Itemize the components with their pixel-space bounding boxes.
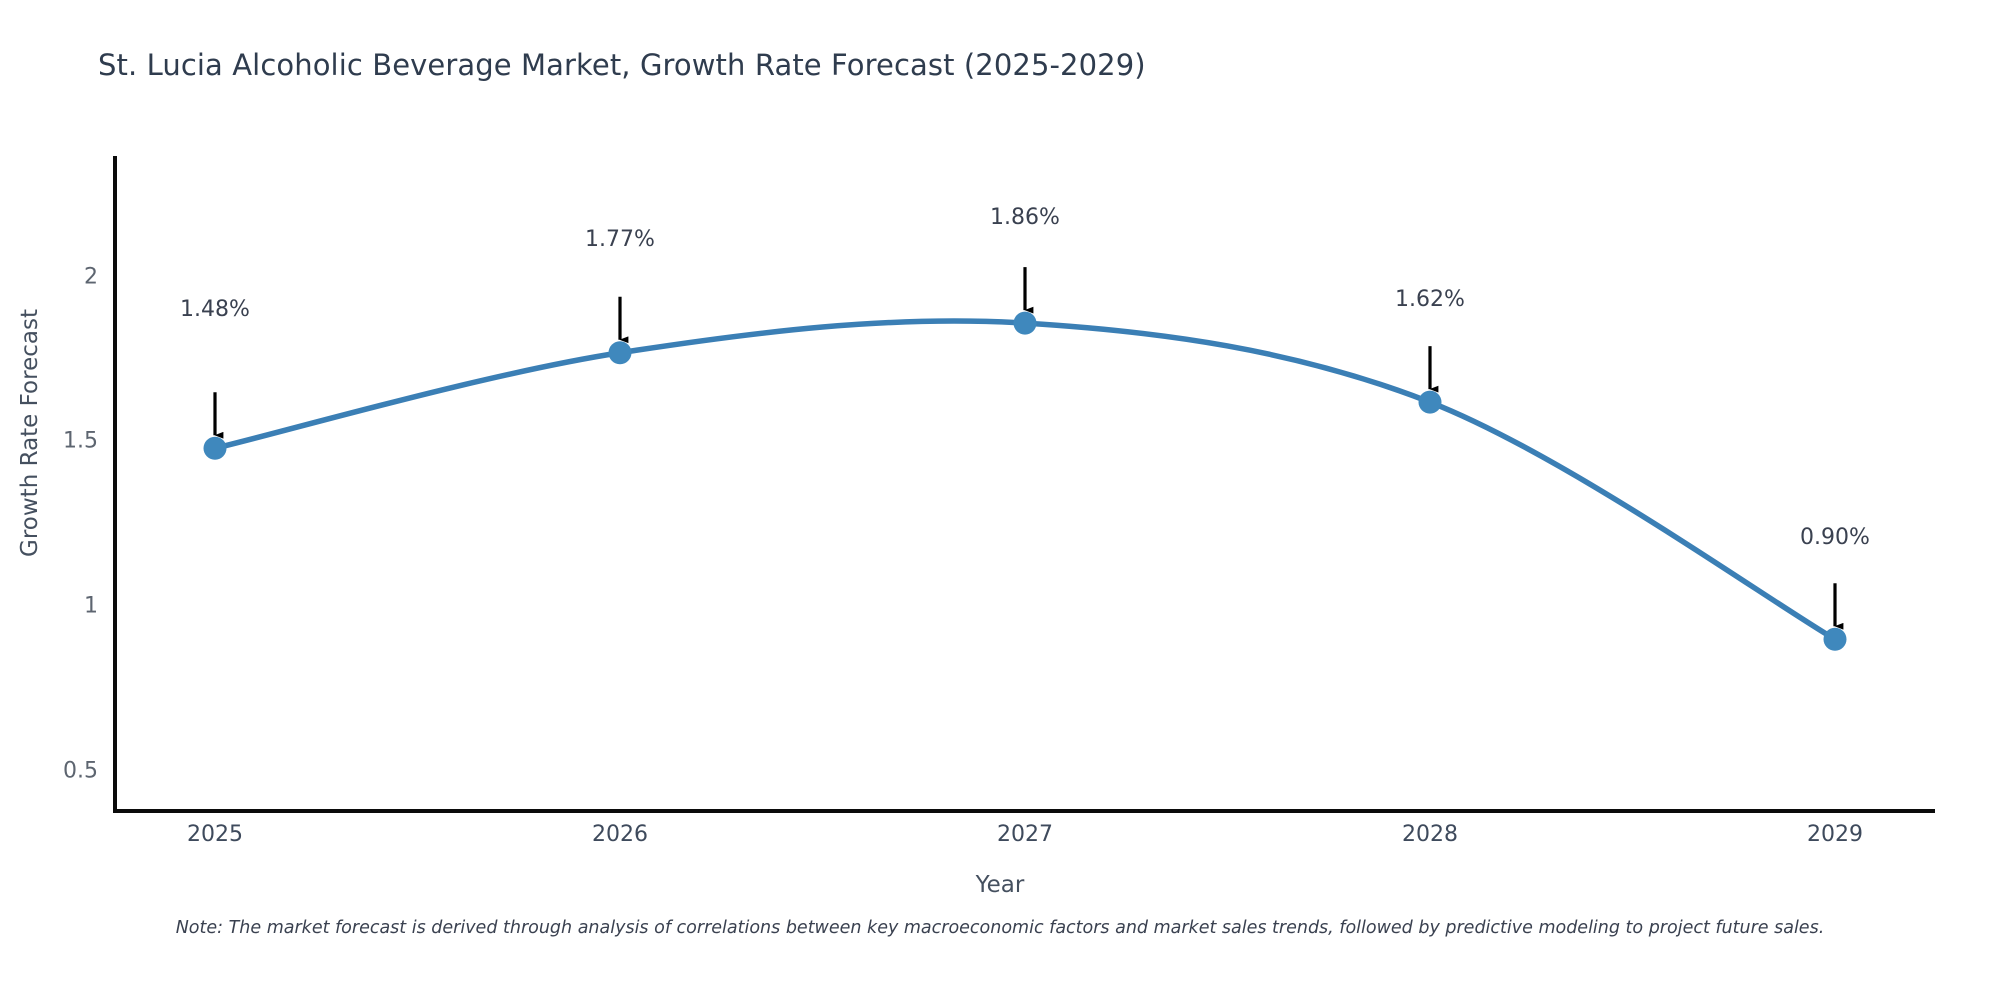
series-markers (204, 312, 1847, 651)
point-label-2027: 1.86% (915, 205, 1135, 230)
chart-footnote: Note: The market forecast is derived thr… (0, 918, 2000, 938)
data-point-marker[interactable] (609, 341, 632, 364)
plot-canvas (0, 0, 2000, 1000)
data-point-marker[interactable] (204, 437, 227, 460)
point-label-2028: 1.62% (1320, 287, 1540, 312)
chart-figure: St. Lucia Alcoholic Beverage Market, Gro… (0, 0, 2000, 1000)
data-point-marker[interactable] (1824, 628, 1847, 651)
data-point-marker[interactable] (1014, 312, 1037, 335)
point-label-2029: 0.90% (1725, 525, 1945, 550)
point-label-2026: 1.77% (510, 227, 730, 252)
series-line (215, 321, 1835, 639)
data-point-marker[interactable] (1419, 391, 1442, 414)
point-label-2025: 1.48% (105, 297, 325, 322)
